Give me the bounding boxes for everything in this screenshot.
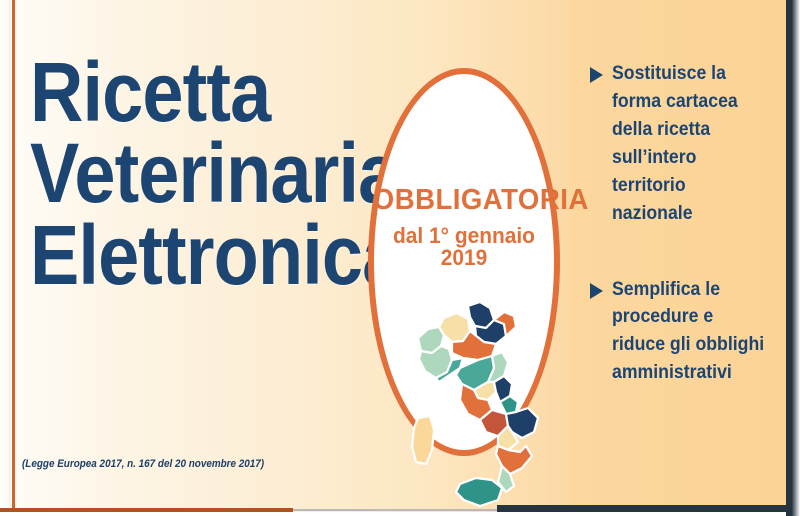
legal-note: (Legge Europea 2017, n. 167 del 20 novem…	[22, 458, 264, 470]
title-line-2: Veterinaria	[30, 133, 338, 214]
bottom-white-strip	[0, 512, 800, 516]
bullet-text-1: Sostituisce la forma cartacea della rice…	[612, 60, 768, 228]
right-edge-dark	[786, 0, 792, 516]
italy-map-icon	[408, 296, 558, 512]
triangle-right-icon	[590, 283, 603, 299]
bullet-item-2: Semplifica le procedure e riduce gli obb…	[590, 276, 780, 388]
bullet-item-1: Sostituisce la forma cartacea della rice…	[590, 60, 780, 228]
badge-subline: dal 1° gennaio 2019	[373, 225, 555, 269]
title-line-1: Ricetta	[30, 52, 338, 133]
bullet-text-2: Semplifica le procedure e riduce gli obb…	[612, 276, 768, 388]
triangle-right-icon	[590, 67, 603, 83]
obligation-badge-text: OBBLIGATORIA dal 1° gennaio 2019	[368, 186, 560, 269]
badge-headline: OBBLIGATORIA	[373, 186, 555, 215]
poster-root: Ricetta Veterinaria Elettronica (Legge E…	[0, 0, 800, 516]
vertical-orange-rule	[12, 0, 15, 512]
bullet-list: Sostituisce la forma cartacea della rice…	[590, 60, 780, 417]
poster-title: Ricetta Veterinaria Elettronica	[30, 52, 380, 296]
title-line-3: Elettronica	[30, 215, 338, 296]
left-gutter	[0, 0, 9, 516]
